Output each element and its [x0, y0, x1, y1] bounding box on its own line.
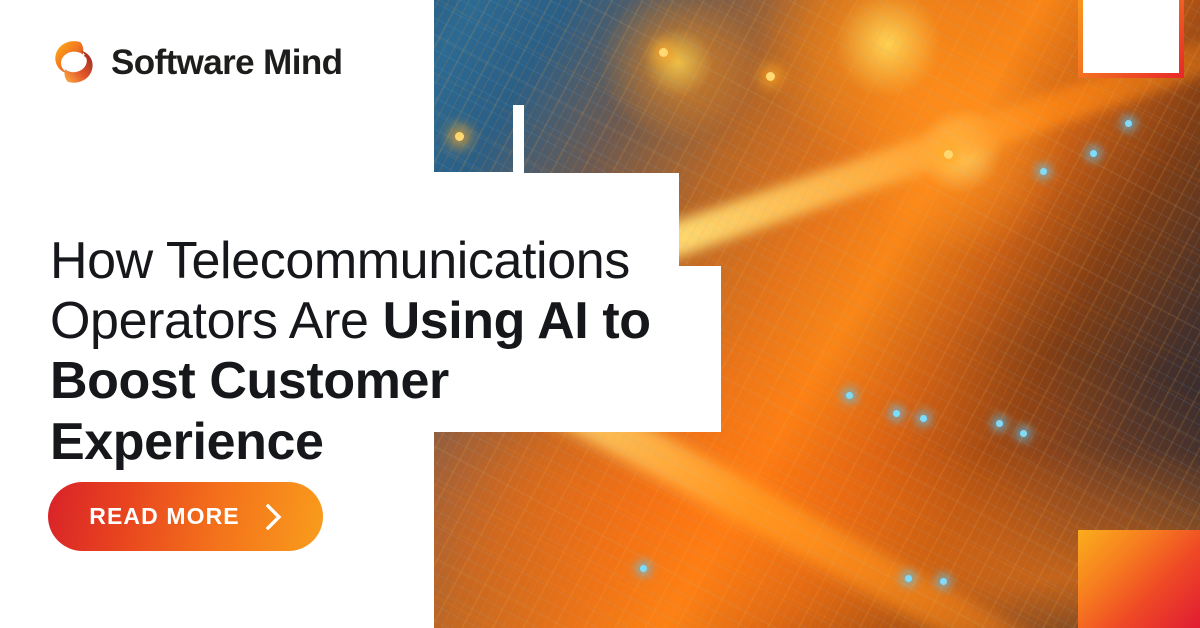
- blue-node-dot: [996, 420, 1003, 427]
- read-more-label: READ MORE: [89, 503, 239, 530]
- filled-gradient-square: [1078, 530, 1200, 628]
- headline-line-2-regular: Operators Are: [50, 292, 383, 350]
- blue-node-dot: [1090, 150, 1097, 157]
- headline-line-2-bold: Using AI to: [383, 292, 651, 350]
- amber-glow-dot: [455, 132, 464, 141]
- read-more-button[interactable]: READ MORE: [48, 482, 323, 551]
- promo-banner: Software Mind How Telecommunications Ope…: [0, 0, 1200, 628]
- brand-logo[interactable]: Software Mind: [50, 38, 342, 86]
- blue-node-dot: [1125, 120, 1132, 127]
- outlined-gradient-square: [1078, 0, 1184, 78]
- blue-node-dot: [905, 575, 912, 582]
- flame-s-mark-icon: [50, 38, 98, 86]
- blue-node-dot: [1040, 168, 1047, 175]
- chevron-right-icon: [266, 504, 282, 530]
- blue-node-dot: [846, 392, 853, 399]
- white-gap-beside-peek-tile: [513, 105, 524, 173]
- blue-node-dot: [1020, 430, 1027, 437]
- headline-line-1: How Telecommunications: [50, 232, 630, 290]
- page-title: How Telecommunications Operators Are Usi…: [50, 231, 690, 472]
- outlined-square-inner: [1083, 0, 1179, 73]
- blue-node-dot: [640, 565, 647, 572]
- brand-name: Software Mind: [111, 45, 342, 80]
- blue-node-dot: [893, 410, 900, 417]
- amber-glow-dot: [944, 150, 953, 159]
- blue-node-dot: [940, 578, 947, 585]
- blue-node-dot: [920, 415, 927, 422]
- amber-glow-dot: [659, 48, 668, 57]
- amber-glow-dot: [766, 72, 775, 81]
- headline-line-3-bold: Boost Customer Experience: [50, 352, 449, 470]
